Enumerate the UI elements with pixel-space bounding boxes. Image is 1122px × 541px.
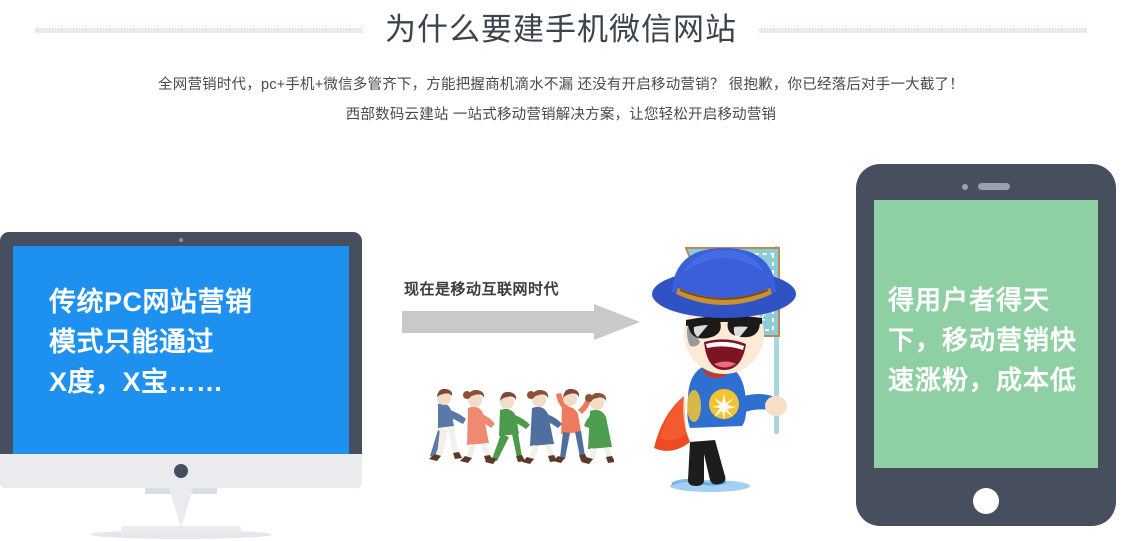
front-camera-icon [962, 184, 968, 190]
mobile-phone-illustration: 得用户者得天下，移动营销快速涨粉，成本低 [856, 164, 1116, 526]
monitor-power-button [174, 464, 188, 478]
phone-body: 得用户者得天下，移动营销快速涨粉，成本低 [856, 164, 1116, 526]
monitor-screen: 传统PC网站营销 模式只能通过 X度，X宝…… [13, 246, 349, 454]
walking-people-group-illustration [424, 378, 614, 478]
hero-hand [765, 396, 787, 416]
monitor-bezel: 传统PC网站营销 模式只能通过 X度，X宝…… [0, 232, 362, 454]
monitor-stand-base [121, 526, 241, 534]
decorative-line-right [759, 28, 1087, 33]
webcam-icon [179, 238, 183, 242]
arrow-label: 现在是移动互联网时代 [404, 278, 559, 299]
page-title: 为什么要建手机微信网站 [385, 10, 737, 50]
speaker-grill-icon [978, 183, 1010, 190]
transition-arrow-block: 现在是移动互联网时代 [398, 278, 643, 340]
decorative-line-left [35, 28, 363, 33]
phone-screen-text: 得用户者得天下，移动营销快速涨粉，成本低 [888, 280, 1084, 400]
page-header: 为什么要建手机微信网站 全网营销时代，pc+手机+微信多管齐下，方能把握商机滴水… [0, 0, 1122, 140]
monitor-chin [0, 454, 362, 488]
superhero-mascot-illustration: 跟 我 来 [628, 228, 848, 528]
title-row: 为什么要建手机微信网站 [0, 8, 1122, 52]
desktop-monitor-illustration: 传统PC网站营销 模式只能通过 X度，X宝…… [0, 232, 362, 488]
monitor-stand-neck [169, 488, 193, 528]
subtitle-line-1: 全网营销时代，pc+手机+微信多管齐下，方能把握商机滴水不漏 还没有开启移动营销… [0, 74, 1122, 96]
subtitle-line-2: 西部数码云建站 一站式移动营销解决方案，让您轻松开启移动营销 [0, 104, 1122, 126]
right-arrow-icon [402, 304, 640, 340]
crowd-person-3 [485, 392, 530, 464]
phone-screen: 得用户者得天下，移动营销快速涨粉，成本低 [874, 200, 1098, 468]
monitor-screen-text: 传统PC网站营销 模式只能通过 X度，X宝…… [49, 282, 349, 402]
crowd-person-2 [460, 390, 495, 463]
crowd-person-1 [429, 389, 466, 461]
hero-pants [688, 440, 725, 486]
phone-home-button [973, 488, 999, 514]
